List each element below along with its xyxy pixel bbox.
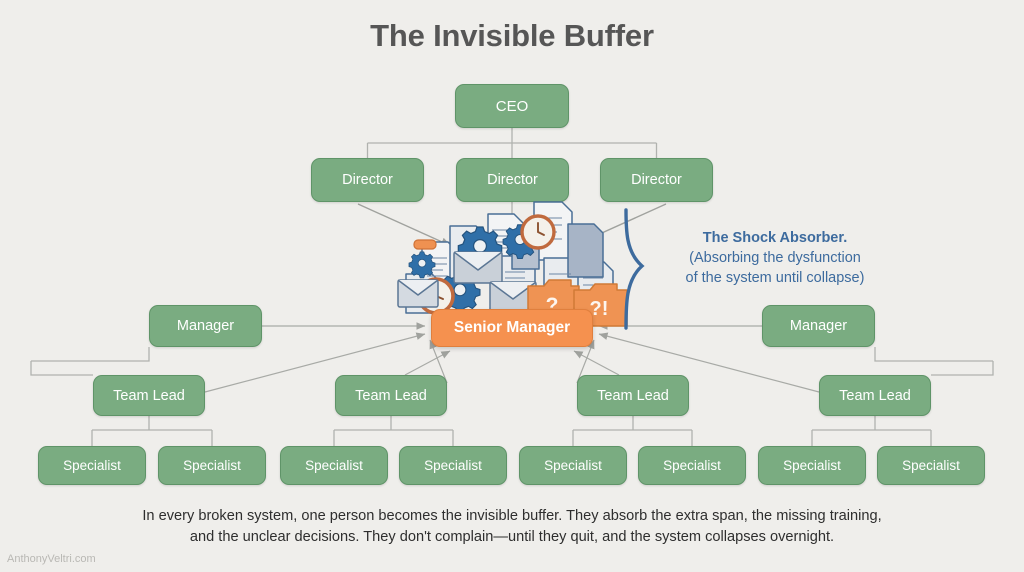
diagram-canvas: The Invisible Buffer (0, 0, 1024, 572)
shock-absorber-annotation: The Shock Absorber. (Absorbing the dysfu… (655, 228, 895, 288)
annotation-line-1: (Absorbing the dysfunction (689, 250, 861, 266)
node-label: Director (487, 172, 538, 188)
node-label: Manager (177, 318, 234, 334)
node-manager-1[interactable]: Manager (149, 305, 262, 347)
node-label: Director (342, 172, 393, 188)
node-manager-2[interactable]: Manager (762, 305, 875, 347)
node-label: Manager (790, 318, 847, 334)
annotation-heading: The Shock Absorber. (655, 228, 895, 248)
node-label: Specialist (183, 458, 241, 473)
node-team-lead-2[interactable]: Team Lead (335, 375, 447, 416)
node-specialist-3[interactable]: Specialist (280, 446, 388, 485)
brace-icon (612, 208, 656, 330)
node-label: Specialist (783, 458, 841, 473)
node-specialist-2[interactable]: Specialist (158, 446, 266, 485)
node-ceo[interactable]: CEO (455, 84, 569, 128)
node-label: Team Lead (113, 388, 185, 404)
node-specialist-1[interactable]: Specialist (38, 446, 146, 485)
node-team-lead-1[interactable]: Team Lead (93, 375, 205, 416)
node-label: Specialist (544, 458, 602, 473)
node-label: Senior Manager (454, 319, 570, 337)
node-label: Director (631, 172, 682, 188)
node-label: Team Lead (839, 388, 911, 404)
caption: In every broken system, one person becom… (62, 506, 962, 548)
node-specialist-8[interactable]: Specialist (877, 446, 985, 485)
node-specialist-4[interactable]: Specialist (399, 446, 507, 485)
node-specialist-7[interactable]: Specialist (758, 446, 866, 485)
node-specialist-6[interactable]: Specialist (638, 446, 746, 485)
watermark: AnthonyVeltri.com (7, 553, 96, 565)
node-team-lead-3[interactable]: Team Lead (577, 375, 689, 416)
node-label: Team Lead (355, 388, 427, 404)
node-specialist-5[interactable]: Specialist (519, 446, 627, 485)
node-label: Specialist (305, 458, 363, 473)
caption-line-2: and the unclear decisions. They don't co… (190, 529, 834, 545)
node-label: Specialist (663, 458, 721, 473)
node-label: Specialist (902, 458, 960, 473)
node-label: Team Lead (597, 388, 669, 404)
node-label: CEO (496, 98, 529, 115)
node-label: Specialist (424, 458, 482, 473)
node-label: Specialist (63, 458, 121, 473)
node-senior-manager-buffer[interactable]: Senior Manager (431, 309, 593, 347)
caption-line-1: In every broken system, one person becom… (142, 508, 881, 524)
node-team-lead-4[interactable]: Team Lead (819, 375, 931, 416)
annotation-line-2: of the system until collapse) (686, 270, 865, 286)
